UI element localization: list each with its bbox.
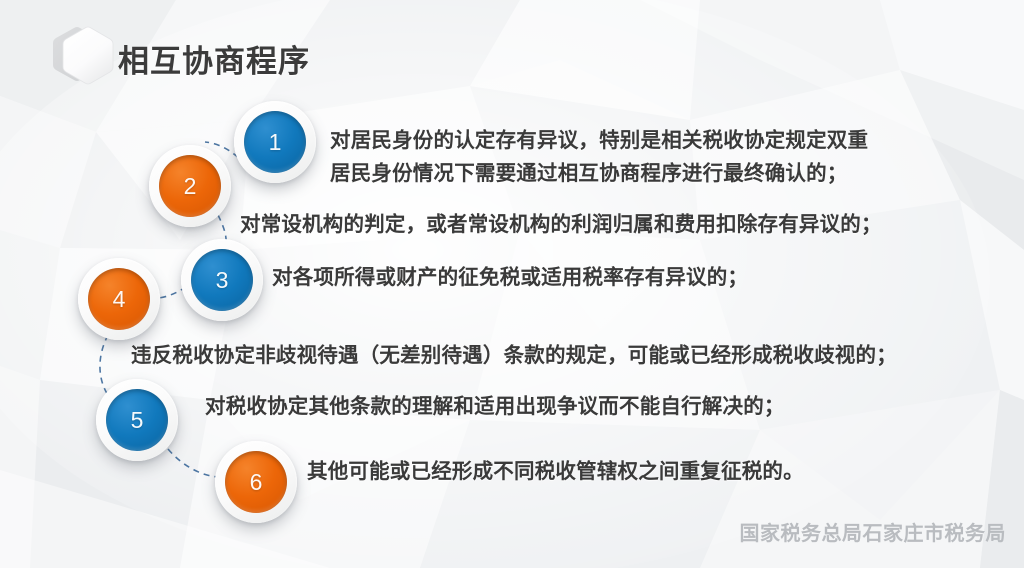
slide-header: 相互协商程序 — [0, 0, 1024, 100]
step-number-4: 4 — [113, 288, 126, 311]
step-number-1: 1 — [269, 131, 282, 154]
step-node-3[interactable]: 3 — [181, 239, 263, 321]
footer-organization: 国家税务总局石家庄市税务局 — [740, 517, 1007, 546]
step-node-6[interactable]: 6 — [215, 441, 297, 523]
step-node-4[interactable]: 4 — [78, 258, 160, 340]
page-title: 相互协商程序 — [118, 36, 310, 81]
step-disc-4: 4 — [88, 268, 150, 330]
step-node-2[interactable]: 2 — [149, 145, 231, 227]
slide-canvas: 相互协商程序 1 2 3 4 5 — [0, 0, 1024, 568]
step-text-3: 对各项所得或财产的征免税或适用税率存有异议的； — [272, 261, 892, 294]
step-disc-5: 5 — [106, 389, 168, 451]
step-node-1[interactable]: 1 — [234, 101, 316, 183]
step-number-3: 3 — [216, 269, 229, 292]
step-number-6: 6 — [250, 471, 263, 494]
step-disc-1: 1 — [244, 111, 306, 173]
step-text-2: 对常设机构的判定，或者常设机构的利润归属和费用扣除存有异议的； — [240, 208, 1000, 241]
step-text-6: 其他可能或已经形成不同税收管辖权之间重复征税的。 — [307, 455, 967, 488]
step-number-5: 5 — [131, 409, 144, 432]
step-disc-6: 6 — [225, 451, 287, 513]
step-text-5: 对税收协定其他条款的理解和适用出现争议而不能自行解决的； — [205, 390, 965, 423]
step-disc-3: 3 — [191, 249, 253, 311]
step-text-1: 对居民身份的认定存有异议，特别是相关税收协定规定双重 居民身份情况下需要通过相互… — [330, 124, 980, 190]
step-node-5[interactable]: 5 — [96, 379, 178, 461]
step-number-2: 2 — [184, 175, 197, 198]
step-disc-2: 2 — [159, 155, 221, 217]
step-text-4: 违反税收协定非歧视待遇（无差别待遇）条款的规定，可能或已经形成税收歧视的； — [131, 339, 1011, 372]
